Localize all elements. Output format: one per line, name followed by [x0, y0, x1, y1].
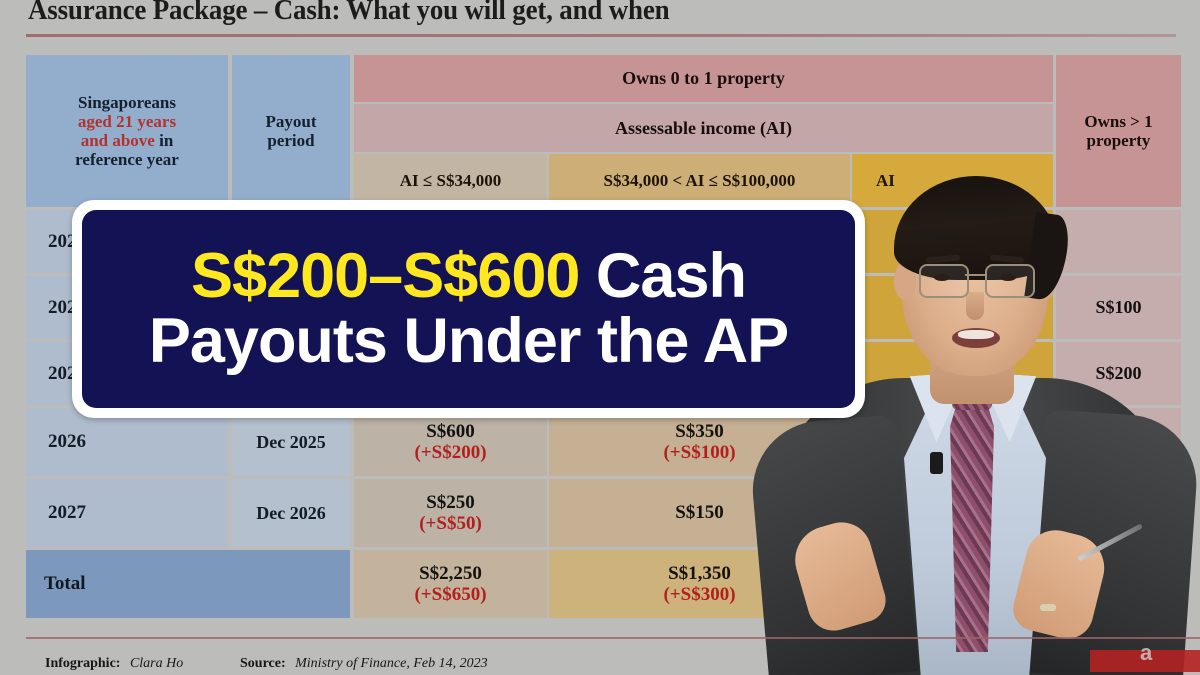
- header-ref-line5: reference year: [75, 150, 179, 169]
- header-owns-0-1-label: Owns 0 to 1 property: [622, 68, 785, 88]
- cell-period-2026-label: Dec 2025: [256, 432, 325, 452]
- table-row-year-2026: 2026: [26, 408, 228, 476]
- footer-infographic: Infographic: Clara Ho: [45, 656, 183, 672]
- header-ai-band-1-label: AI ≤ S$34,000: [400, 171, 501, 190]
- header-ref-line2: aged 21 years: [78, 112, 176, 131]
- headline-overlay: S$200–S$600 Cash Payouts Under the AP: [72, 200, 865, 418]
- header-ref-line3: and above: [81, 131, 155, 150]
- nose: [966, 292, 984, 320]
- cell-band1-2027-value: S$250: [426, 492, 475, 513]
- cell-period-2027: Dec 2026: [232, 479, 350, 547]
- header-payout-period: Payout period: [232, 55, 350, 207]
- cell-band1-2026-delta: (+S$200): [414, 442, 486, 463]
- total-band1-value: S$2,250: [419, 563, 482, 584]
- cell-band2-2027-value: S$150: [675, 502, 724, 523]
- title-divider: [26, 34, 1176, 37]
- total-row-label: Total: [26, 550, 350, 618]
- total-band2-value: S$1,350: [668, 563, 731, 584]
- glasses-lens-right: [985, 264, 1035, 298]
- teeth: [958, 330, 994, 339]
- ring: [1040, 604, 1056, 611]
- eye-right: [1000, 274, 1016, 281]
- lapel-microphone: [930, 452, 943, 474]
- cell-period-2026: Dec 2025: [232, 408, 350, 476]
- total-band1: S$2,250 (+S$650): [354, 550, 547, 618]
- header-assessable-income-label: Assessable income (AI): [615, 118, 792, 138]
- cell-band2-2026-delta: (+S$100): [663, 442, 735, 463]
- cell-band1-2027: S$250 (+S$50): [354, 479, 547, 547]
- header-owns-more-label: Owns > 1 property: [1084, 112, 1152, 150]
- header-payout-period-label: Payout period: [266, 112, 317, 150]
- row-label-2026: 2026: [48, 431, 86, 452]
- header-reference-year: Singaporeans aged 21 years and above in …: [26, 55, 228, 207]
- header-assessable-income: Assessable income (AI): [354, 104, 1053, 152]
- footer-divider: [26, 637, 1200, 639]
- footer-source: Source: Ministry of Finance, Feb 14, 202…: [240, 656, 488, 672]
- row-label-2027: 2027: [48, 502, 86, 523]
- watermark-icon: a: [1140, 640, 1200, 675]
- header-ref-line4: in: [155, 131, 173, 150]
- table-row-year-2027: 2027: [26, 479, 228, 547]
- cell-band1-2027-delta: (+S$50): [419, 513, 482, 534]
- total-label: Total: [44, 573, 86, 594]
- glasses-lens-left: [919, 264, 969, 298]
- cell-band2-2026-value: S$350: [675, 421, 724, 442]
- footer-infographic-label: Infographic:: [45, 656, 120, 671]
- eye-left: [934, 274, 950, 281]
- necktie: [950, 384, 994, 652]
- total-band1-delta: (+S$650): [414, 584, 486, 605]
- total-band2-delta: (+S$300): [663, 584, 735, 605]
- cell-period-2027-label: Dec 2026: [256, 503, 325, 523]
- header-owns-0-1: Owns 0 to 1 property: [354, 55, 1053, 102]
- headline-line-1-rest: Cash: [579, 241, 746, 311]
- cell-band1-2026-value: S$600: [426, 421, 475, 442]
- header-ref-line1: Singaporeans: [78, 93, 176, 112]
- footer-source-value: Ministry of Finance, Feb 14, 2023: [295, 656, 487, 671]
- glasses-bridge: [965, 274, 985, 276]
- page-title: Assurance Package – Cash: What you will …: [28, 0, 958, 28]
- headline-line-1: S$200–S$600 Cash: [191, 244, 746, 309]
- headline-amount: S$200–S$600: [191, 241, 579, 311]
- headline-line-2: Payouts Under the AP: [149, 309, 788, 374]
- footer-infographic-value: Clara Ho: [130, 656, 183, 671]
- infographic-canvas: Assurance Package – Cash: What you will …: [0, 0, 1200, 675]
- footer-source-label: Source:: [240, 656, 286, 671]
- cell-band1-2026: S$600 (+S$200): [354, 408, 547, 476]
- headline-overlay-inner: S$200–S$600 Cash Payouts Under the AP: [82, 210, 855, 408]
